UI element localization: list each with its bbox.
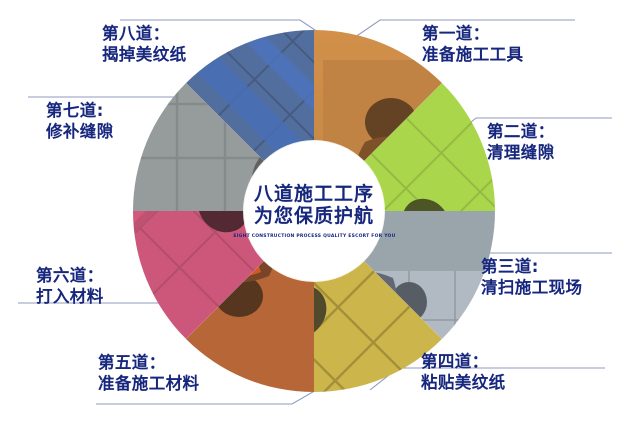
poster-canvas: 八道施工工序 为您保质护航 EIGHT CONSTRUCTION PROCESS…: [0, 0, 628, 427]
step-label-3[interactable]: 第三道: 清扫施工现场: [481, 257, 582, 299]
center-english-subtitle: EIGHT CONSTRUCTION PROCESS QUALITY ESCOR…: [233, 234, 395, 239]
center-headline-line1: 八道施工工序: [254, 183, 374, 205]
step-6-subtitle: 打入材料: [36, 287, 104, 308]
step-label-1[interactable]: 第一道： 准备施工工具: [422, 24, 523, 66]
step-7-title: 第七道:: [46, 101, 104, 120]
step-5-subtitle: 准备施工材料: [98, 374, 199, 395]
step-label-8[interactable]: 第八道： 揭掉美纹纸: [102, 24, 187, 66]
step-8-title: 第八道：: [102, 24, 170, 43]
step-8-subtitle: 揭掉美纹纸: [102, 45, 187, 66]
center-headline-line2: 为您保质护航: [254, 205, 374, 227]
step-3-title: 第三道:: [481, 257, 539, 276]
step-label-4[interactable]: 第四道： 粘贴美纹纸: [421, 352, 506, 394]
step-1-subtitle: 准备施工工具: [422, 45, 523, 66]
step-7-subtitle: 修补缝隙: [46, 122, 114, 143]
step-4-subtitle: 粘贴美纹纸: [421, 373, 506, 394]
step-4-title: 第四道：: [421, 352, 489, 371]
step-5-title: 第五道：: [98, 353, 166, 372]
step-2-title: 第二道：: [487, 122, 555, 141]
step-2-subtitle: 清理缝隙: [487, 143, 555, 164]
step-label-5[interactable]: 第五道： 准备施工材料: [98, 353, 199, 395]
step-3-subtitle: 清扫施工现场: [481, 278, 582, 299]
step-label-2[interactable]: 第二道： 清理缝隙: [487, 122, 555, 164]
step-1-title: 第一道：: [422, 24, 490, 43]
step-6-title: 第六道：: [36, 266, 104, 285]
step-label-7[interactable]: 第七道: 修补缝隙: [46, 101, 114, 143]
center-hub: 八道施工工序 为您保质护航 EIGHT CONSTRUCTION PROCESS…: [244, 141, 384, 281]
process-wheel: 八道施工工序 为您保质护航 EIGHT CONSTRUCTION PROCESS…: [133, 30, 495, 392]
step-label-6[interactable]: 第六道： 打入材料: [36, 266, 104, 308]
